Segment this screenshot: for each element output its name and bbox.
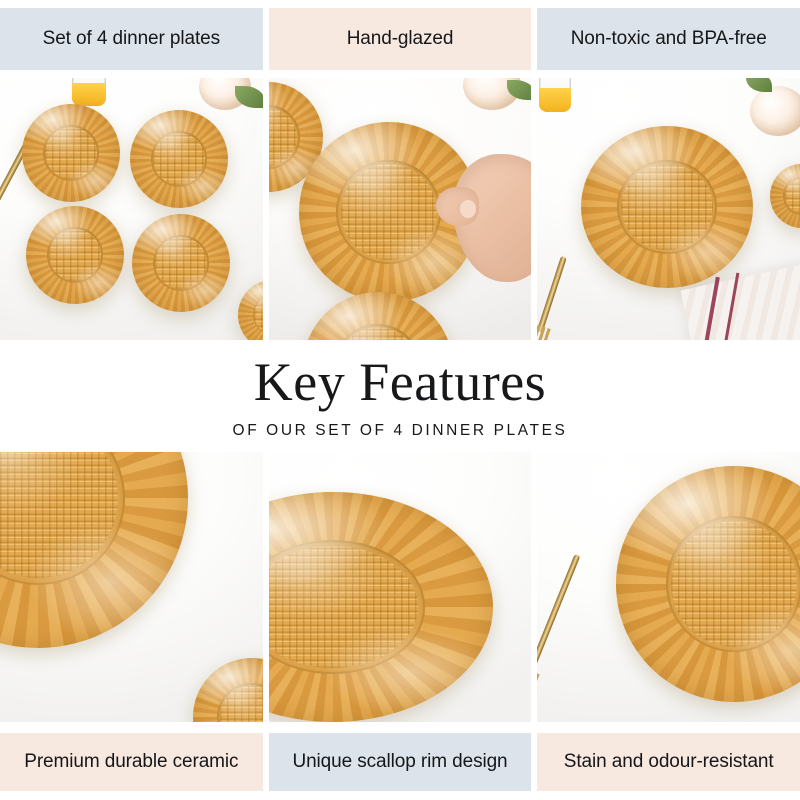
plate-center [581,126,753,288]
infographic-canvas: Set of 4 dinner plates Hand-glazed Non-t… [0,0,800,800]
juice-fill [539,88,571,112]
caption-label: Stain and odour-resistant [564,751,774,773]
photo-scallop-rim-angle [269,452,532,722]
towel-stripe [698,277,720,340]
thumb-nail [460,200,477,218]
caption-label: Hand-glazed [347,28,454,50]
photo-four-plates-flatlay [0,78,263,340]
caption-label: Premium durable ceramic [24,751,238,773]
towel-stripe [719,273,740,340]
rose-bloom [750,86,800,136]
photo-plate-with-gold-fork [537,452,800,722]
plate-top-right [130,110,228,208]
caption-hand-glazed: Hand-glazed [269,8,532,70]
caption-label: Unique scallop rim design [292,751,507,773]
bottom-caption-row: Premium durable ceramic Unique scallop r… [0,733,800,791]
hand-holding-rim [453,154,531,282]
plate-bottom-right [132,214,230,312]
tumbler-glass [539,78,571,112]
top-photo-row [0,78,800,340]
photo-plate-texture-macro [0,452,263,722]
caption-label: Non-toxic and BPA-free [571,28,767,50]
caption-label: Set of 4 dinner plates [43,28,220,50]
title-block: Key Features OF OUR SET OF 4 DINNER PLAT… [0,344,800,450]
caption-stain-odour-resistant: Stain and odour-resistant [537,733,800,791]
page-title: Key Features [254,355,546,409]
plate-textured-well [617,160,717,254]
plate-textured-well [666,516,800,653]
top-caption-row: Set of 4 dinner plates Hand-glazed Non-t… [0,8,800,70]
plate-top-left [22,104,120,202]
plate-right [616,466,800,702]
caption-set-of-4-dinner-plates: Set of 4 dinner plates [0,8,263,70]
caption-non-toxic-bpa-free: Non-toxic and BPA-free [537,8,800,70]
plate-textured-well [336,160,440,264]
caption-unique-scallop-rim-design: Unique scallop rim design [269,733,532,791]
caption-premium-durable-ceramic: Premium durable ceramic [0,733,263,791]
photo-single-plate-with-fork [537,78,800,340]
bottom-photo-row [0,452,800,722]
plate-bottom-left [26,206,124,304]
page-subtitle: OF OUR SET OF 4 DINNER PLATES [233,422,568,440]
photo-hand-holding-plate [269,78,532,340]
